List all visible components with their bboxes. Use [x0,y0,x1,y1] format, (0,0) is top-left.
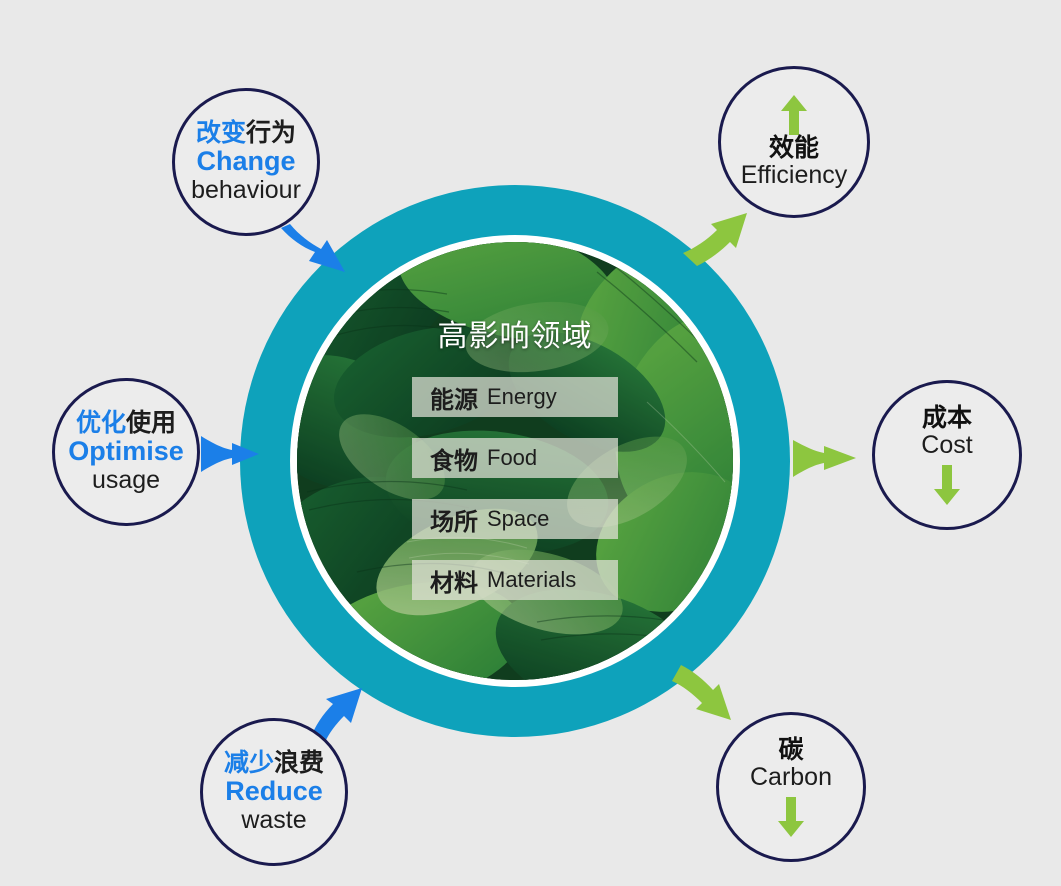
arrow-center-to-cost [793,440,856,477]
input-bubble-optimise-cn: 优化使用 [76,410,176,437]
arrow-change-to-center [281,224,345,272]
arrow-up-icon [781,95,807,135]
input-bubble-reduce-en: Reduce [225,777,323,806]
change-cn-accent: 改变 [196,119,246,147]
outcome-bubble-efficiency[interactable]: 效能 Efficiency [718,66,870,218]
arrow-down-icon [778,797,804,837]
optimise-cn-accent: 优化 [76,409,126,437]
outcome-carbon-cn: 碳 [778,737,803,764]
outcome-cost-cn: 成本 [922,405,972,432]
arrow-center-to-efficiency [683,213,747,266]
arrow-optimise-to-center [201,436,259,472]
outcome-cost-en: Cost [921,432,972,459]
input-bubble-reduce-cn: 减少浪费 [224,750,324,777]
outcome-bubble-carbon[interactable]: 碳 Carbon [716,712,866,862]
diagram-canvas: 高影响领域 能源 Energy 食物 Food 场所 Space 材料 Mate… [0,0,1061,886]
reduce-cn-accent: 减少 [224,749,274,777]
input-bubble-change-en-sub: behaviour [191,176,301,204]
change-cn-plain: 行为 [246,119,296,147]
outcome-carbon-en: Carbon [750,764,832,791]
arrow-down-icon [934,465,960,505]
optimise-cn-plain: 使用 [126,409,176,437]
input-bubble-optimise-en-sub: usage [92,466,160,494]
outcome-efficiency-cn: 效能 [769,135,819,162]
input-bubble-change-en: Change [196,147,295,176]
outcome-bubble-cost[interactable]: 成本 Cost [872,380,1022,530]
input-bubble-change-cn: 改变行为 [196,120,296,147]
arrow-center-to-carbon [672,665,731,720]
reduce-cn-plain: 浪费 [274,749,324,777]
input-bubble-reduce-en-sub: waste [241,806,306,834]
input-bubble-optimise-en: Optimise [68,437,184,466]
input-bubble-optimise[interactable]: 优化使用 Optimise usage [52,378,200,526]
input-bubble-change[interactable]: 改变行为 Change behaviour [172,88,320,236]
outcome-efficiency-en: Efficiency [741,162,848,189]
input-bubble-reduce[interactable]: 减少浪费 Reduce waste [200,718,348,866]
